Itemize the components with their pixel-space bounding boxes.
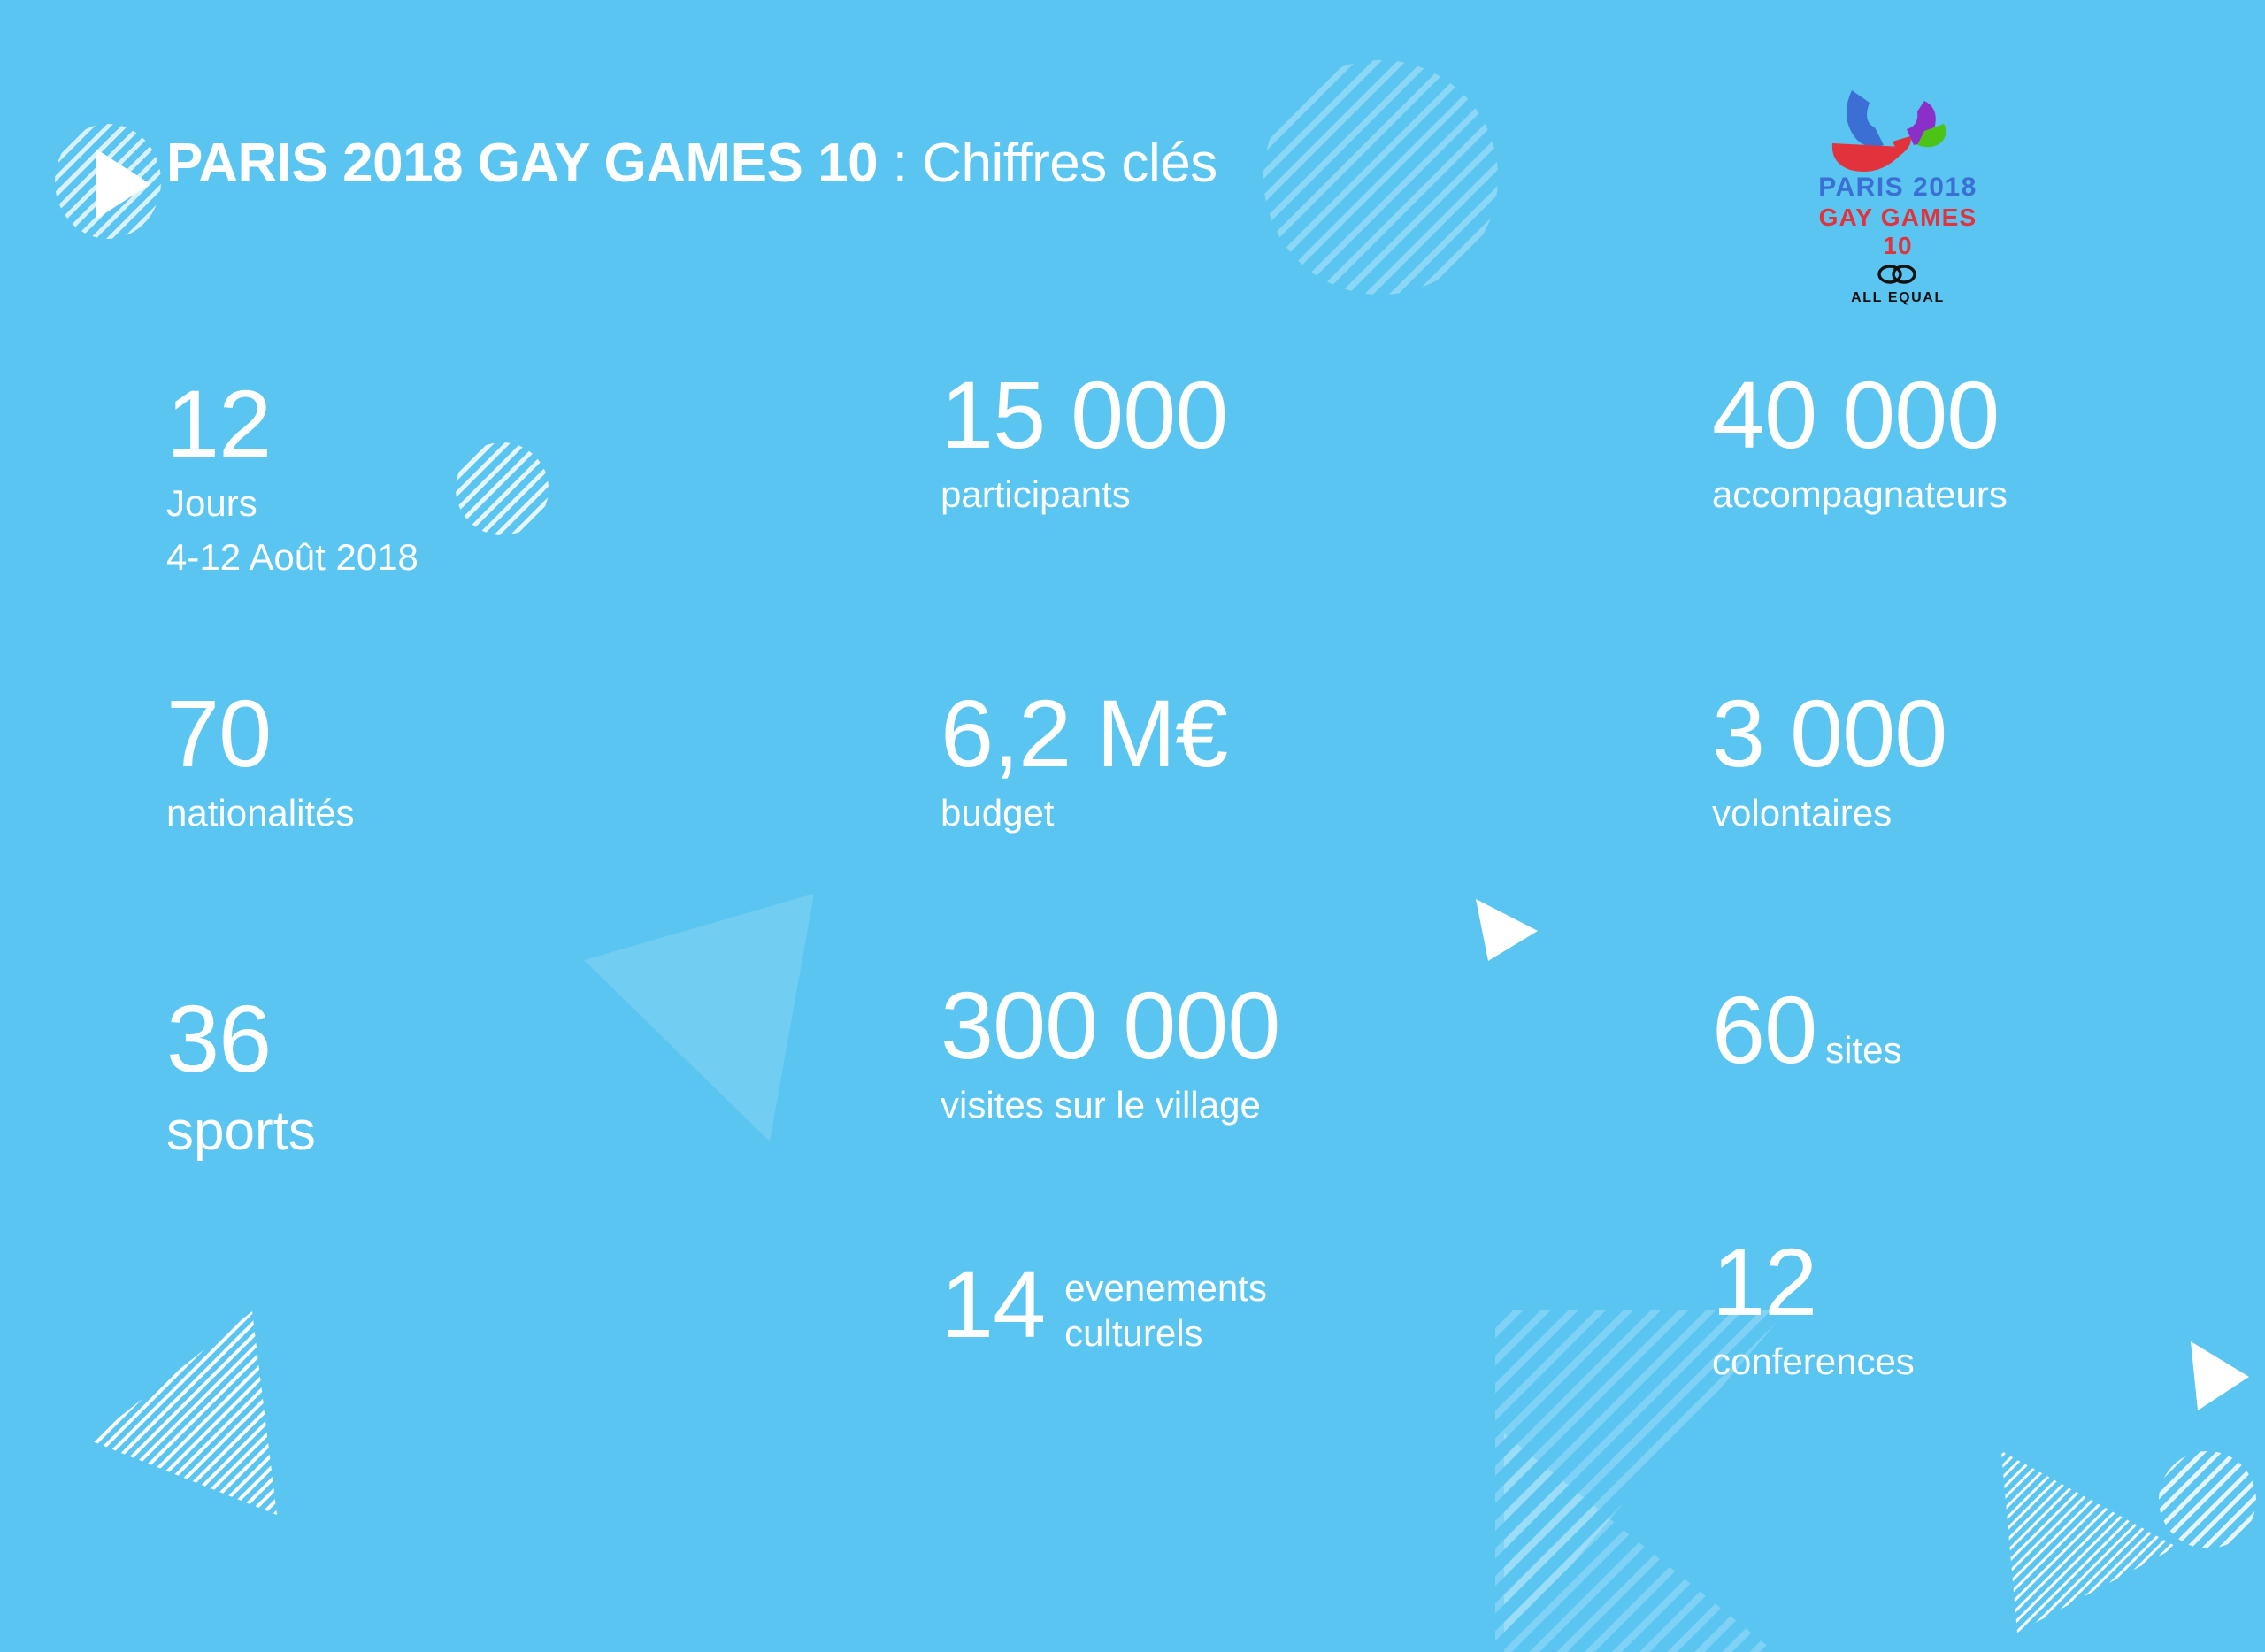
stat-number: 12 (1712, 1234, 1915, 1330)
stat-evenements-culturels: 14 evenements culturels (941, 1256, 1267, 1356)
linked-rings-icon (1800, 264, 1995, 289)
stat-number: 3 000 (1712, 686, 1946, 781)
stat-sports: 36 sports (166, 991, 316, 1162)
infographic-slide: PARIS 2018 GAY GAMES 10 : Chiffres clés … (0, 0, 2265, 1652)
logo-mark-icon (1800, 71, 1995, 173)
stat-label: accompagnateurs (1712, 473, 2008, 515)
stat-number: 15 000 (941, 367, 1227, 463)
faint-triangle-icon (549, 876, 920, 1159)
play-triangle-right-icon (2185, 1336, 2256, 1416)
stat-conferences: 12 conferences (1712, 1234, 1915, 1382)
striped-circle-small-icon (456, 442, 549, 535)
stat-jours: 12 Jours 4-12 Août 2018 (166, 376, 418, 579)
stat-volontaires: 3 000 volontaires (1712, 686, 1946, 834)
page-title-bold: PARIS 2018 GAY GAMES 10 (166, 133, 878, 194)
stat-number: 14 (941, 1256, 1045, 1352)
play-triangle-icon (1469, 894, 1548, 964)
logo-tagline: ALL EQUAL (1800, 290, 1995, 306)
stat-label: visites sur le village (941, 1084, 1279, 1126)
event-logo: PARIS 2018 GAY GAMES 10 ALL EQUAL (1800, 71, 1995, 274)
logo-line-gaygames: GAY GAMES 10 (1800, 204, 1995, 260)
striped-triangle-icon (62, 1274, 380, 1628)
stat-number: 12 (166, 376, 418, 472)
stat-budget: 6,2 M€ budget (941, 686, 1227, 834)
stat-accompagnateurs: 40 000 accompagnateurs (1712, 367, 2008, 515)
stat-label: Jours (166, 482, 418, 524)
stat-label-line1: evenements (1064, 1265, 1267, 1310)
title-play-icon (96, 149, 150, 219)
stat-label: budget (941, 792, 1227, 834)
stat-label: participants (941, 473, 1227, 515)
stat-visites: 300 000 visites sur le village (941, 978, 1279, 1126)
stat-number: 70 (166, 686, 354, 781)
stat-label-line2: culturels (1064, 1310, 1267, 1356)
striped-circle-corner-icon (2159, 1451, 2256, 1548)
stat-number: 36 (166, 991, 316, 1087)
stat-label: volontaires (1712, 792, 1946, 834)
logo-line-paris: PARIS 2018 (1800, 173, 1995, 204)
stat-nationalites: 70 nationalités (166, 686, 354, 834)
stat-label-block: evenements culturels (1064, 1256, 1267, 1356)
stat-number: 6,2 M€ (941, 686, 1227, 781)
stat-number: 300 000 (941, 978, 1279, 1073)
stat-sub: 4-12 Août 2018 (166, 536, 418, 579)
stat-label: nationalités (166, 792, 354, 834)
striped-triangle-small-icon (1991, 1442, 2194, 1652)
stat-number: 40 000 (1712, 367, 2008, 463)
stat-label: sites (1825, 1029, 1901, 1071)
stat-participants: 15 000 participants (941, 367, 1227, 515)
stat-sites: 60 sites (1712, 982, 1902, 1078)
stat-label: sports (166, 1101, 316, 1162)
page-title: PARIS 2018 GAY GAMES 10 : Chiffres clés (166, 134, 1217, 192)
stat-number: 60 (1712, 982, 1816, 1078)
header: PARIS 2018 GAY GAMES 10 : Chiffres clés … (0, 0, 2265, 292)
stat-label: conferences (1712, 1341, 1915, 1382)
page-title-light: : Chiffres clés (878, 133, 1217, 194)
